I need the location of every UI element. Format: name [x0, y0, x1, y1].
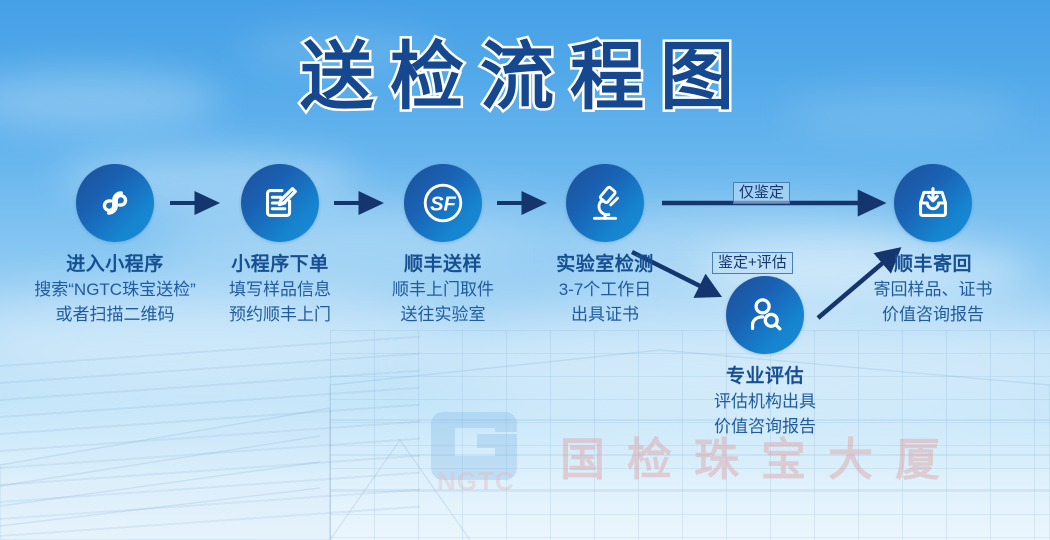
step-title: 实验室检测: [505, 254, 705, 276]
ngtc-logo-watermark: NGTC: [425, 400, 560, 500]
sf-express-icon: SF: [404, 164, 482, 242]
step-sf-return[interactable]: 顺丰寄回 寄回样品、证书 价值咨询报告: [833, 164, 1033, 327]
wechat-miniprogram-icon: [76, 164, 154, 242]
flowchart-poster: NGTC 国检珠宝大厦 送检流程图 仅鉴定 鉴定+评估: [0, 0, 1050, 540]
form-edit-icon: [241, 164, 319, 242]
inbox-download-icon: [894, 164, 972, 242]
branch-label-identification-only: 仅鉴定: [733, 182, 790, 204]
step-desc-line-2: 价值咨询报告: [665, 416, 865, 438]
building-watermark-left: [0, 336, 420, 540]
step-desc-line-1: 寄回样品、证书: [833, 279, 1033, 301]
building-watermark-outline: [0, 290, 1050, 540]
svg-text:NGTC: NGTC: [437, 466, 515, 496]
step-title: 顺丰寄回: [833, 254, 1033, 276]
step-desc-line-2: 价值咨询报告: [833, 304, 1033, 326]
page-title: 送检流程图: [0, 40, 1050, 114]
step-desc-line-1: 评估机构出具: [665, 391, 865, 413]
branch-label-identification-plus-valuation: 鉴定+评估: [712, 252, 793, 274]
step-title: 专业评估: [665, 366, 865, 388]
microscope-icon: [566, 164, 644, 242]
person-search-icon: [726, 276, 804, 354]
svg-text:SF: SF: [430, 194, 456, 216]
